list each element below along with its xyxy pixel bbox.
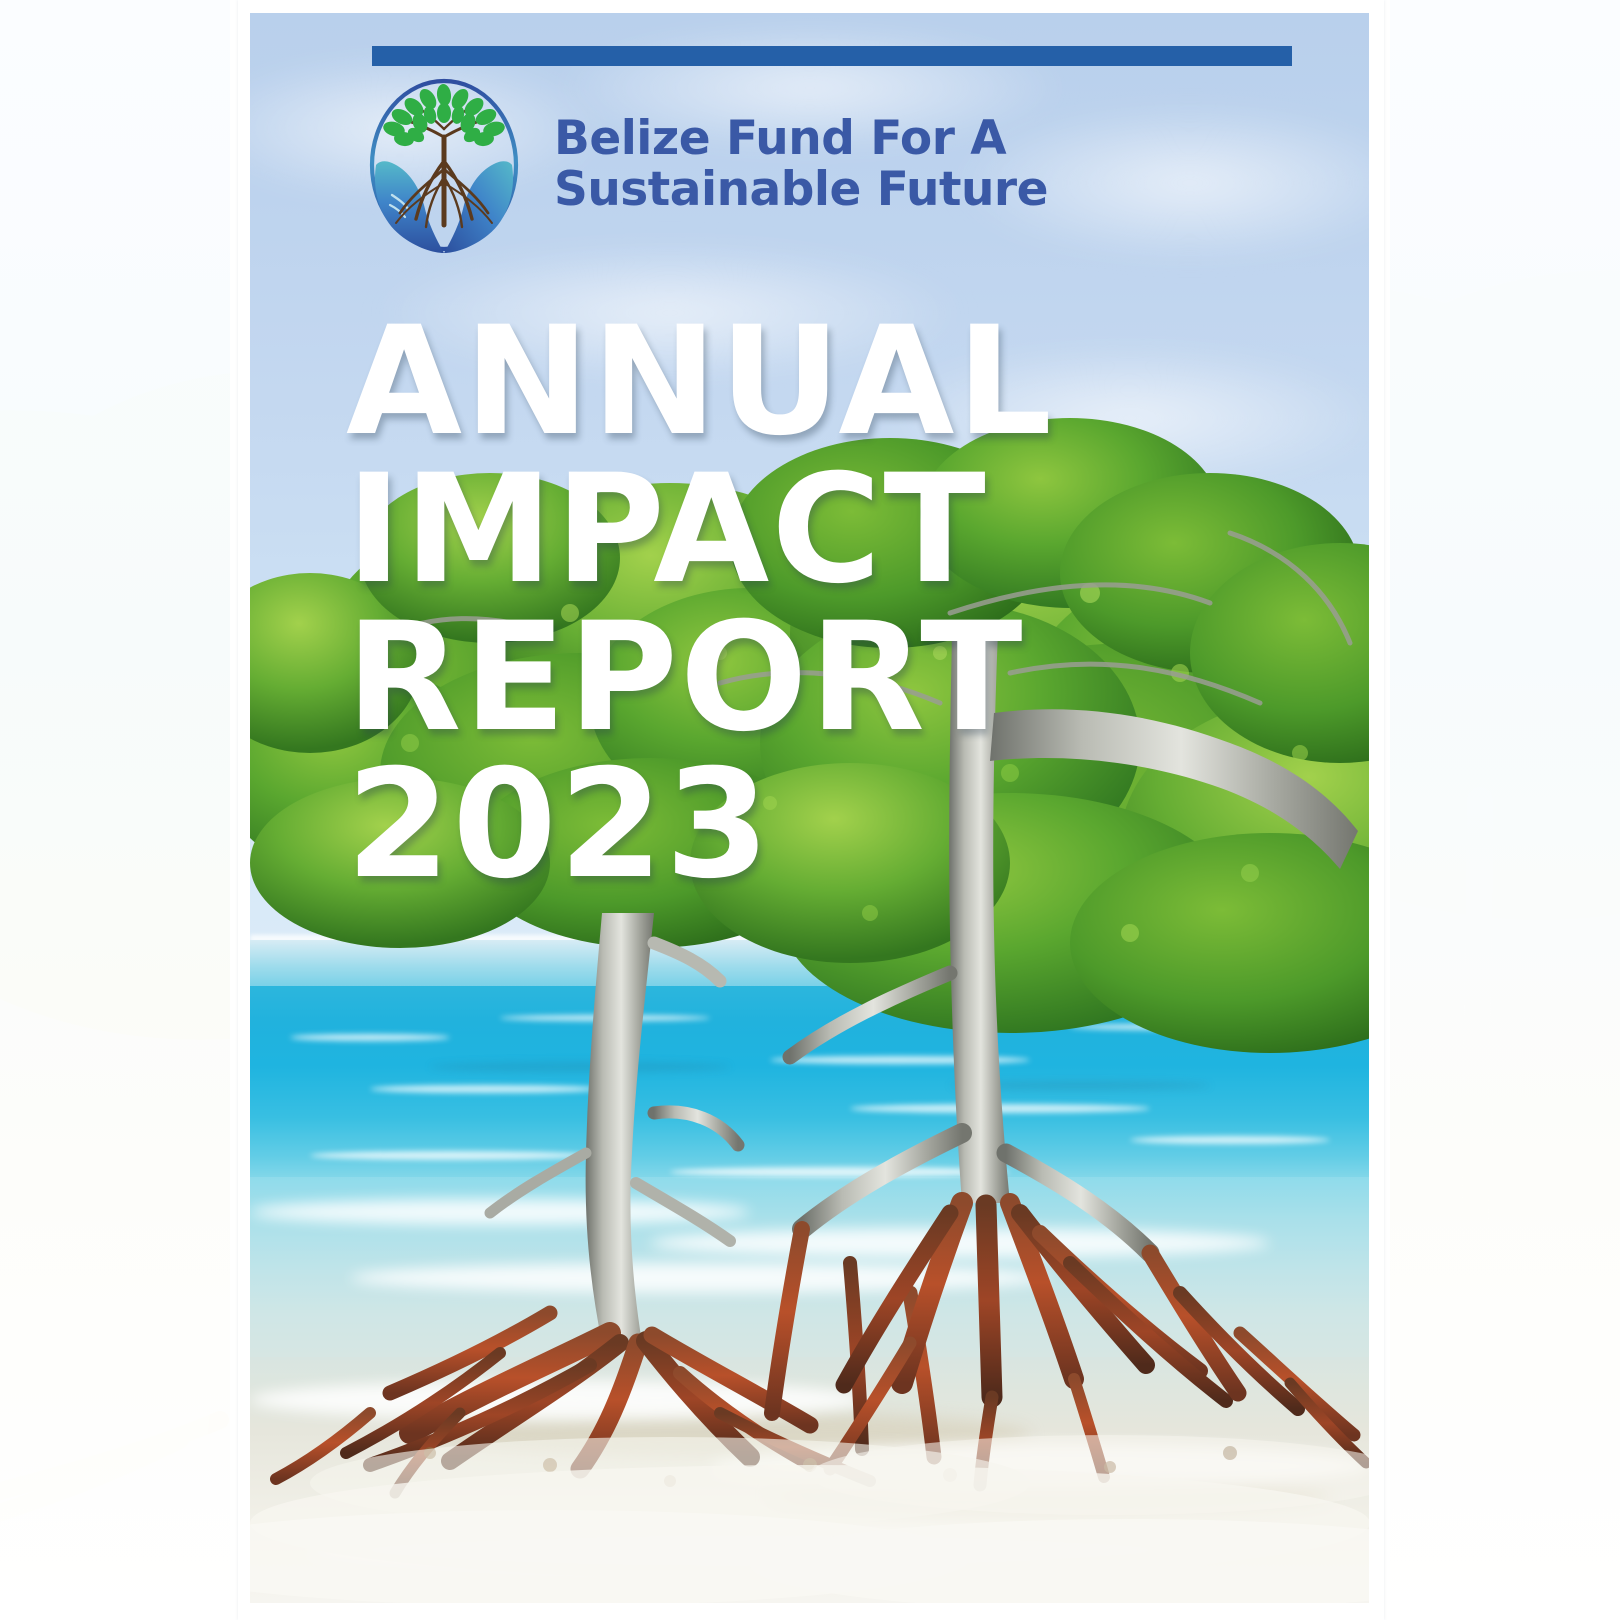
cover-title: ANNUAL IMPACT REPORT 2023 <box>346 309 1346 900</box>
report-cover-page: Belize Fund For A Sustainable Future ANN… <box>238 0 1384 1620</box>
title-line-report: REPORT <box>346 605 1346 753</box>
accent-bar <box>372 46 1292 66</box>
mangrove-tree-in-hands-logo-icon <box>358 73 530 258</box>
title-line-impact: IMPACT <box>346 457 1346 605</box>
organization-wordmark: Belize Fund For A Sustainable Future <box>554 114 1048 216</box>
cover-photograph: Belize Fund For A Sustainable Future ANN… <box>250 13 1369 1603</box>
title-line-year: 2023 <box>346 752 1346 900</box>
title-line-annual: ANNUAL <box>346 309 1346 457</box>
organization-logo: Belize Fund For A Sustainable Future <box>358 65 1168 265</box>
